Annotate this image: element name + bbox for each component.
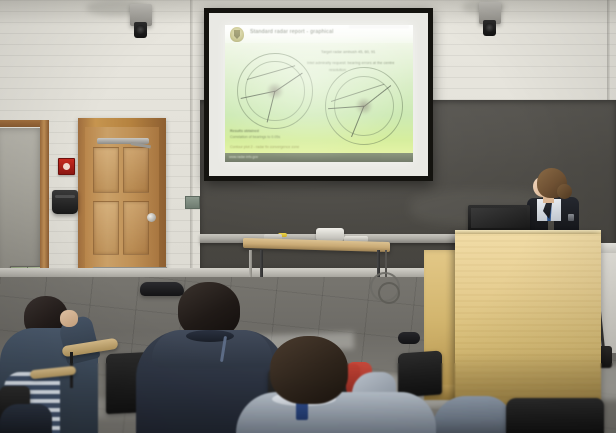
wooden-door[interactable] bbox=[78, 118, 166, 282]
av-projector-unit[interactable] bbox=[316, 228, 344, 241]
slide-subtitle-b: Intel admiralty request: bearing errors … bbox=[307, 60, 394, 65]
lectern[interactable] bbox=[455, 234, 601, 410]
door-slab bbox=[85, 127, 159, 282]
wall-mounted-dispenser[interactable] bbox=[52, 190, 78, 214]
room-sign-plaque bbox=[185, 196, 200, 209]
slide-subtitle-c: resolution bbox=[329, 67, 346, 72]
blazer-badge bbox=[568, 214, 574, 221]
wall-joint-left bbox=[190, 0, 193, 300]
classroom-presentation-scene: Standard radar report - graphical Target… bbox=[0, 0, 616, 433]
projected-slide: Standard radar report - graphical Target… bbox=[225, 25, 413, 162]
fire-alarm-call-point[interactable] bbox=[58, 158, 75, 175]
wall-speaker-right-icon bbox=[483, 20, 496, 36]
doorway-jamb bbox=[40, 120, 49, 280]
polar-fix-cluster bbox=[356, 98, 372, 114]
wall-speaker-left-icon bbox=[134, 22, 147, 38]
polar-plot-left bbox=[237, 53, 313, 129]
door-panel bbox=[93, 147, 119, 193]
skirting-board bbox=[0, 268, 430, 277]
slide-footer-note: Contour plot 2 - radar fix convergence z… bbox=[230, 145, 299, 149]
open-doorway-left[interactable] bbox=[0, 128, 44, 278]
door-panel bbox=[123, 201, 149, 255]
polar-plot-right bbox=[325, 67, 403, 145]
projection-screen: Standard radar report - graphical Target… bbox=[209, 13, 428, 176]
door-panel bbox=[123, 147, 149, 193]
slide-bottom-bar-text: www.radar-info.gov bbox=[229, 155, 258, 159]
hand bbox=[60, 310, 78, 327]
slide-bottom-bar: www.radar-info.gov bbox=[225, 153, 413, 162]
slide-subtitle-a: Target radar ambush 45, 60, 91 bbox=[321, 49, 375, 54]
slide-footer-line: Correlation of bearings to 0.05s bbox=[230, 135, 280, 139]
chair[interactable] bbox=[398, 350, 442, 397]
slide-footer-heading: Results obtained bbox=[230, 129, 259, 133]
projection-screen-frame: Standard radar report - graphical Target… bbox=[204, 8, 433, 181]
chair[interactable] bbox=[506, 398, 604, 433]
bag-on-floor[interactable] bbox=[398, 332, 420, 344]
rucksack-on-floor[interactable] bbox=[140, 282, 184, 296]
head bbox=[270, 336, 348, 404]
polar-fix-cluster bbox=[267, 83, 282, 98]
institution-crest-icon bbox=[230, 27, 244, 42]
door-handle[interactable] bbox=[147, 213, 156, 222]
presenter bbox=[521, 168, 583, 238]
torso bbox=[0, 404, 52, 433]
door-panel bbox=[93, 201, 119, 255]
hair-bun bbox=[557, 184, 572, 199]
slide-title: Standard radar report - graphical bbox=[250, 29, 334, 35]
torso bbox=[236, 392, 436, 433]
